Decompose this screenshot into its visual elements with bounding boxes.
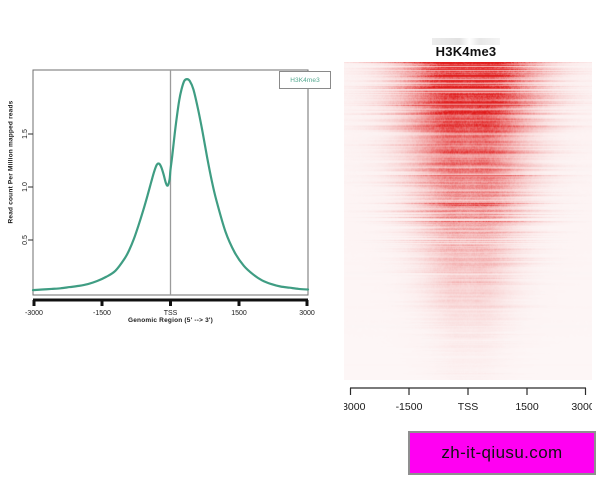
- x-tick-label: -1500: [93, 310, 111, 317]
- x-axis: -3000 -1500 TSS 1500 3000: [25, 300, 315, 317]
- figure-canvas: 0.5 1.0 1.5 -3000 -1500 TSS 1500 3000: [0, 0, 600, 480]
- heatmap-x-tick-label: TSS: [458, 401, 478, 413]
- heatmap-x-tick-label: -3000: [344, 401, 366, 413]
- y-tick-label: 1.5: [22, 129, 29, 139]
- watermark-text: zh-it-qiusu.com: [441, 443, 562, 463]
- x-tick-label: 3000: [299, 310, 315, 317]
- profile-plot-panel: 0.5 1.0 1.5 -3000 -1500 TSS 1500 3000: [0, 55, 335, 330]
- heatmap-title: H3K4me3: [340, 44, 592, 59]
- y-axis-ticks: 0.5 1.0 1.5: [22, 129, 33, 245]
- y-tick-label: 0.5: [22, 235, 29, 245]
- profile-plot-svg: 0.5 1.0 1.5 -3000 -1500 TSS 1500 3000: [0, 55, 335, 330]
- heatmap-x-tick-label: 1500: [515, 401, 539, 413]
- legend-label-h3k4me3: H3K4me3: [290, 77, 320, 84]
- x-tick-label: -3000: [25, 310, 43, 317]
- heatmap-panel: H3K4me3 -3000 -1500 TSS 1500 3000: [340, 32, 600, 422]
- heatmap-canvas: [344, 62, 592, 380]
- x-tick-label: TSS: [164, 310, 178, 317]
- heatmap-x-axis: -3000 -1500 TSS 1500 3000: [344, 380, 592, 420]
- watermark-badge: zh-it-qiusu.com: [408, 431, 596, 475]
- x-tick-label: 1500: [231, 310, 247, 317]
- heatmap-x-tick-label: -1500: [396, 401, 423, 413]
- heatmap-x-tick-label: 3000: [571, 401, 592, 413]
- y-axis-title: Read count Per Million mapped reads: [8, 114, 15, 224]
- legend-box: H3K4me3: [279, 71, 331, 89]
- heatmap-image: [344, 62, 592, 380]
- x-axis-title: Genomic Region (5' --> 3'): [33, 317, 308, 324]
- y-tick-label: 1.0: [22, 182, 29, 192]
